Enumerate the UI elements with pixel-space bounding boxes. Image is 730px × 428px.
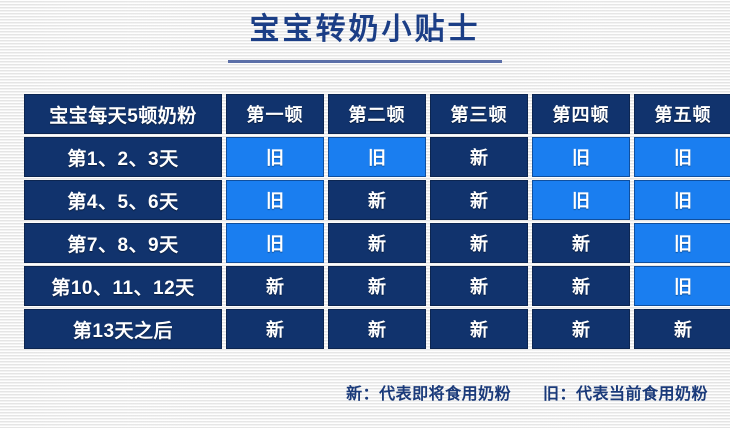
cell-new-milk: 新 [430,223,528,263]
cell-old-milk: 旧 [226,223,324,263]
table-row: 第10、11、12天新新新新旧 [24,266,730,306]
legend-new: 新：代表即将食用奶粉 [346,380,511,404]
row-label-day-range: 第10、11、12天 [24,266,222,306]
cell-old-milk: 旧 [328,137,426,177]
column-header-meal-2: 第二顿 [328,94,426,134]
table-row: 第1、2、3天旧旧新旧旧 [24,137,730,177]
table-row: 第13天之后新新新新新 [24,309,730,349]
table-body: 第1、2、3天旧旧新旧旧第4、5、6天旧新新旧旧第7、8、9天旧新新新旧第10、… [24,137,730,349]
cell-old-milk: 旧 [226,180,324,220]
row-label-day-range: 第7、8、9天 [24,223,222,263]
table-row: 第7、8、9天旧新新新旧 [24,223,730,263]
title-block: 宝宝转奶小贴士 [0,10,730,63]
cell-old-milk: 旧 [634,266,730,306]
row-label-day-range: 第4、5、6天 [24,180,222,220]
cell-old-milk: 旧 [226,137,324,177]
cell-new-milk: 新 [430,137,528,177]
cell-new-milk: 新 [226,309,324,349]
table-header-row: 宝宝每天5顿奶粉 第一顿 第二顿 第三顿 第四顿 第五顿 [24,94,730,134]
cell-new-milk: 新 [430,309,528,349]
infographic-page: 宝宝转奶小贴士 宝宝每天5顿奶粉 第一顿 第二顿 第三顿 第四顿 第五顿 第1、… [0,0,730,428]
cell-old-milk: 旧 [634,223,730,263]
cell-new-milk: 新 [430,180,528,220]
table-corner-label: 宝宝每天5顿奶粉 [24,94,222,134]
row-label-day-range: 第13天之后 [24,309,222,349]
column-header-meal-4: 第四顿 [532,94,630,134]
cell-new-milk: 新 [430,266,528,306]
cell-new-milk: 新 [532,266,630,306]
cell-old-milk: 旧 [532,180,630,220]
cell-new-milk: 新 [634,309,730,349]
cell-new-milk: 新 [328,180,426,220]
cell-new-milk: 新 [226,266,324,306]
row-label-day-range: 第1、2、3天 [24,137,222,177]
page-title: 宝宝转奶小贴士 [0,10,730,50]
legend: 新：代表即将食用奶粉 旧：代表当前食用奶粉 [346,380,708,404]
legend-old: 旧：代表当前食用奶粉 [543,380,708,404]
cell-new-milk: 新 [328,309,426,349]
cell-old-milk: 旧 [634,137,730,177]
cell-new-milk: 新 [328,223,426,263]
cell-new-milk: 新 [532,309,630,349]
column-header-meal-3: 第三顿 [430,94,528,134]
table-row: 第4、5、6天旧新新旧旧 [24,180,730,220]
cell-new-milk: 新 [328,266,426,306]
title-underline [228,60,502,63]
feeding-schedule-table: 宝宝每天5顿奶粉 第一顿 第二顿 第三顿 第四顿 第五顿 第1、2、3天旧旧新旧… [20,91,730,352]
column-header-meal-5: 第五顿 [634,94,730,134]
column-header-meal-1: 第一顿 [226,94,324,134]
cell-old-milk: 旧 [634,180,730,220]
cell-new-milk: 新 [532,223,630,263]
cell-old-milk: 旧 [532,137,630,177]
